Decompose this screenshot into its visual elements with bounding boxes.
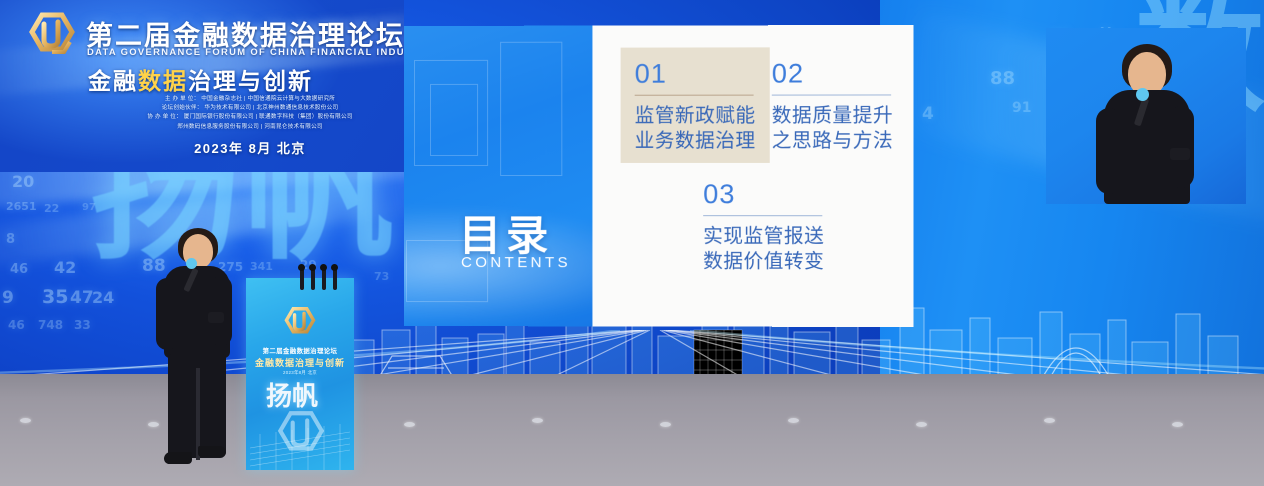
floor-marker (404, 422, 415, 427)
floor-marker (660, 422, 671, 427)
presenter-shoe-left (164, 452, 192, 464)
background-number: 46 (10, 262, 28, 277)
presenter-clicker (208, 312, 224, 323)
subtitle-part-1: 金融 (88, 69, 138, 95)
projected-agenda-slide: 目录 CONTENTS 01 监管新政赋能 业务数据治理 02 数据质量提升 之… (404, 25, 913, 327)
microphone-stand (322, 268, 326, 290)
floor-marker (20, 418, 31, 423)
floor-marker (916, 422, 927, 427)
slide-building-outline (500, 42, 562, 176)
presenter-shoe-right (198, 446, 226, 457)
background-number: 91 (1012, 100, 1031, 116)
subtitle-part-highlight: 数据 (138, 69, 188, 95)
hexagon-forum-logo-icon (24, 8, 80, 64)
floor-marker (788, 418, 799, 423)
slide-section-title-en: CONTENTS (461, 254, 571, 271)
organizer-line: 论坛创始伙伴： 华为技术有限公司 | 北京神州数通信息技术股份公司 (104, 104, 396, 113)
agenda-divider (635, 95, 754, 96)
conference-stage-screenshot: 扬帆 数 81964371768231542087432651229784642… (0, 0, 1264, 486)
banner-organizers: 主 办 单 位： 中国金融杂志社 | 中国信通院云计算与大数据研究所 论坛创始伙… (104, 95, 396, 132)
agenda-item-03[interactable]: 03 实现监管报送 数据价值转变 (703, 178, 824, 274)
agenda-text-line: 业务数据治理 (635, 128, 756, 153)
microphone-head (1136, 88, 1149, 101)
background-number: 73 (374, 270, 389, 283)
background-number: 8 (6, 232, 15, 247)
background-number: 20 (12, 172, 34, 191)
presenter-arm-right (210, 276, 232, 346)
microphone-head (298, 264, 305, 271)
subtitle-part-3: 治理与创新 (188, 69, 313, 95)
slide-agenda-panel: 01 监管新政赋能 业务数据治理 02 数据质量提升 之思路与方法 03 实现监… (592, 25, 913, 327)
stage-presenter-figure (152, 228, 246, 470)
podium-grid-decoration (246, 400, 354, 470)
acrylic-podium-sign: 第二届金融数据治理论坛 金融数据治理与创新 2023年8月 北京 扬帆 (246, 278, 354, 470)
microphone-head (309, 264, 316, 271)
agenda-number: 01 (635, 57, 756, 89)
hexagon-forum-logo-icon (281, 304, 319, 342)
banner-title-en: DATA GOVERNANCE FORUM OF CHINA FINANCIAL… (87, 46, 404, 57)
agenda-text-line: 实现监管报送 (703, 223, 824, 248)
presenter-clicker (1170, 148, 1190, 160)
agenda-item-01[interactable]: 01 监管新政赋能 业务数据治理 (635, 57, 756, 152)
microphone-head (320, 264, 327, 271)
presenter-arm-right (1168, 106, 1194, 188)
background-number: 42 (54, 258, 76, 277)
podium-headline-cn: 金融数据治理与创新 (246, 356, 354, 369)
agenda-item-02[interactable]: 02 数据质量提升 之思路与方法 (772, 57, 893, 153)
organizer-line: 郑州数码信息服务股份有限公司 | 河南昆仑技术有限公司 (104, 123, 396, 132)
background-number: 22 (44, 202, 59, 215)
agenda-text-line: 数据质量提升 (772, 103, 893, 128)
microphone-head (331, 264, 338, 271)
banner-date-location: 2023年 8月 北京 (104, 138, 396, 157)
agenda-divider (772, 94, 891, 95)
speaker-closeup-video (1046, 28, 1246, 204)
agenda-number: 02 (772, 57, 893, 89)
presenter-arm-left (156, 278, 178, 350)
agenda-number: 03 (703, 178, 824, 210)
microphone-stand (311, 268, 315, 290)
banner-subtitle: 金融数据治理与创新 (88, 62, 313, 96)
presenter-arm-left (1096, 108, 1122, 194)
microphone-stand (333, 268, 337, 290)
organizer-line: 协 办 单 位： 厦门国际银行股份有限公司 | 联通数字科技（集团）股份有限公司 (104, 113, 396, 122)
slide-building-outline (430, 84, 478, 156)
background-number: 88 (990, 68, 1015, 89)
pip-presenter-figure (1090, 44, 1206, 204)
event-banner: 第二届金融数据治理论坛 DATA GOVERNANCE FORUM OF CHI… (0, 0, 404, 172)
background-number: 4 (922, 104, 934, 124)
floor-marker (1044, 418, 1055, 423)
background-number: 341 (250, 260, 273, 273)
floor-marker (532, 418, 543, 423)
microphone-stand (300, 268, 304, 290)
agenda-text-line: 监管新政赋能 (635, 103, 756, 128)
background-number: 97 (82, 202, 96, 213)
organizer-line: 主 办 单 位： 中国金融杂志社 | 中国信通院云计算与大数据研究所 (104, 95, 396, 104)
slide-contents-panel: 目录 CONTENTS (404, 26, 592, 327)
agenda-divider (703, 215, 822, 216)
background-number: 2651 (6, 200, 37, 213)
floor-marker (1172, 422, 1183, 427)
agenda-text-line: 数据价值转变 (703, 248, 824, 273)
podium-title-cn: 第二届金融数据治理论坛 (246, 346, 354, 355)
microphone-head (186, 258, 197, 269)
agenda-text-line: 之思路与方法 (772, 128, 893, 153)
